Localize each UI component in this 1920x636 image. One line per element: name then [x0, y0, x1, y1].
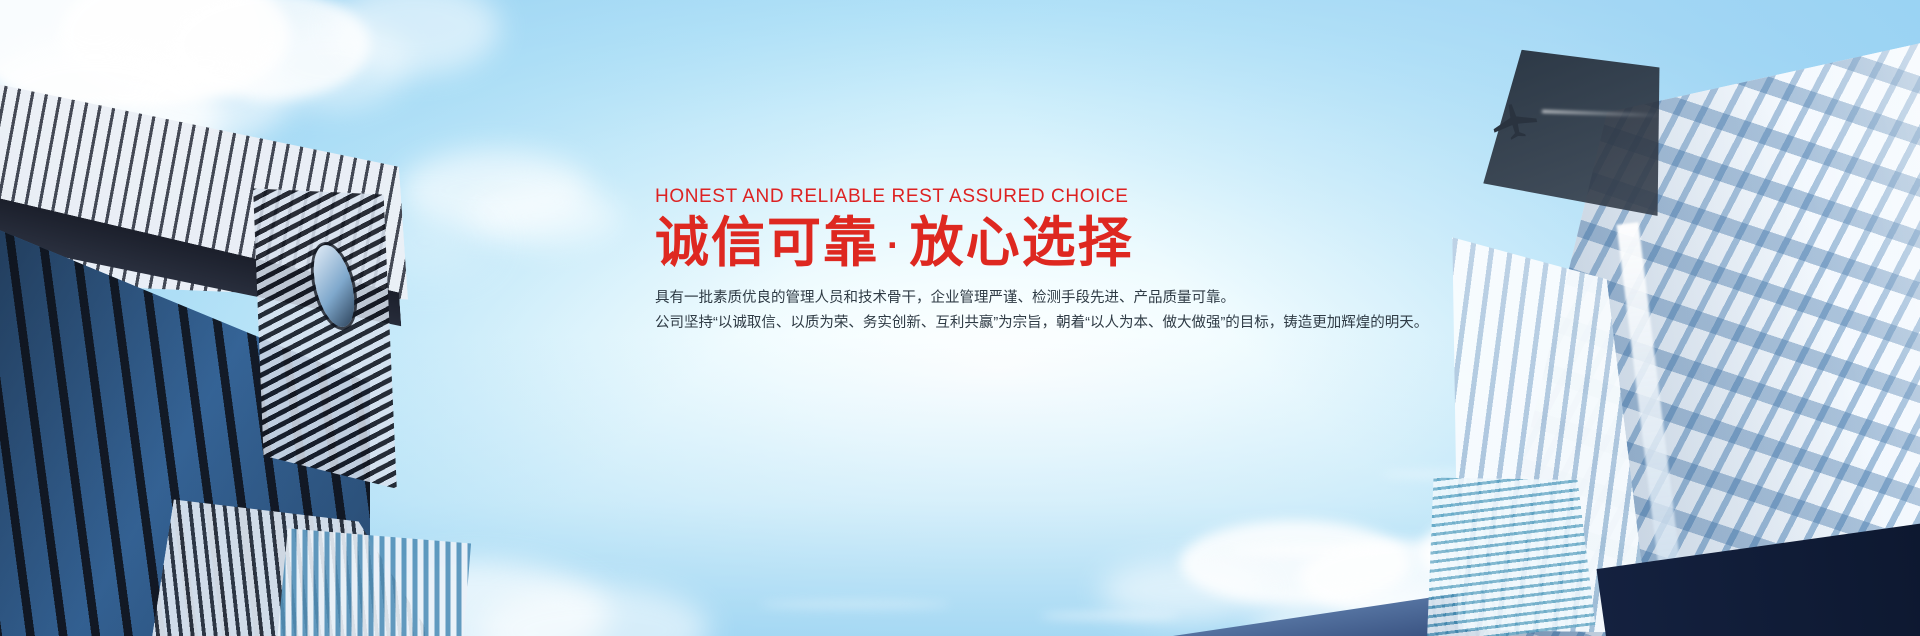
banner-copy-block: HONEST AND RELIABLE REST ASSURED CHOICE …: [655, 186, 1475, 336]
cloud-streak: [760, 600, 950, 609]
headline-part-right: 放心选择: [910, 213, 1134, 273]
hero-banner: HONEST AND RELIABLE REST ASSURED CHOICE …: [0, 0, 1920, 636]
banner-eyebrow: HONEST AND RELIABLE REST ASSURED CHOICE: [655, 186, 1475, 208]
cloud: [470, 185, 620, 247]
page-title: 诚信可靠·放心选择: [655, 214, 1475, 272]
cloud-streak: [1040, 612, 1180, 620]
airplane-icon: [1486, 100, 1542, 140]
headline-separator: ·: [879, 225, 910, 267]
left-building-photo: [0, 68, 430, 636]
banner-body-line-1: 具有一批素质优良的管理人员和技术骨干，企业管理严谨、检测手段先进、产品质量可靠。: [655, 286, 1475, 311]
banner-body-line-2: 公司坚持“以诚取信、以质为荣、务实创新、互利共赢”为宗旨，朝着“以人为本、做大做…: [655, 311, 1475, 336]
right-building-annex: [1407, 460, 1596, 636]
headline-part-left: 诚信可靠: [655, 213, 879, 273]
